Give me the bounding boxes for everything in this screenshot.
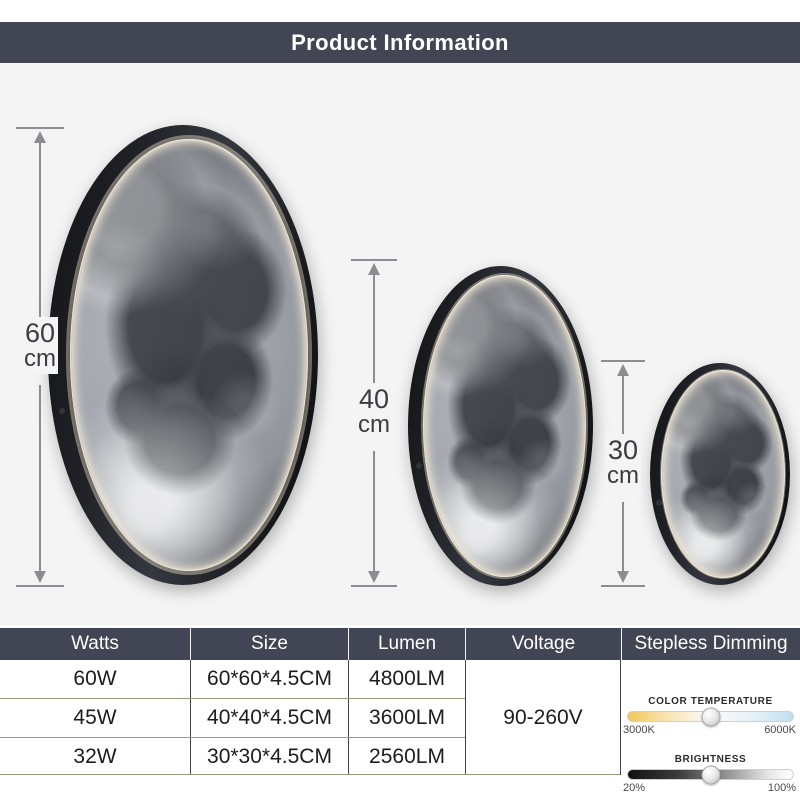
color-temperature-group: COLOR TEMPERATURE 3000K 6000K xyxy=(621,696,800,737)
page-title: Product Information xyxy=(291,30,509,56)
large-lamp-moon-face xyxy=(72,141,306,569)
table-header-lumen: Lumen xyxy=(348,628,465,660)
dimension-unit: cm xyxy=(607,463,639,488)
table-header-size: Size xyxy=(190,628,348,660)
brightness-title: BRIGHTNESS xyxy=(621,754,800,765)
color-temperature-title: COLOR TEMPERATURE xyxy=(621,696,800,707)
medium-lamp-screw xyxy=(417,464,421,468)
stepless-dimming-panel: COLOR TEMPERATURE 3000K 6000K BRIGHTNESS xyxy=(621,692,800,807)
brightness-min-label: 20% xyxy=(623,782,645,794)
table-cell-watts: 45W xyxy=(0,699,190,737)
brightness-group: BRIGHTNESS 20% 100% xyxy=(621,754,800,795)
color-temperature-scale: 3000K 6000K xyxy=(621,724,800,737)
medium-lamp-moon-face xyxy=(425,277,584,575)
table-cell-size: 40*40*4.5CM xyxy=(191,699,348,737)
dimension-arrowhead-bottom xyxy=(617,571,629,583)
product-information-page: Product Information xyxy=(0,0,800,800)
table-cell-lumen: 4800LM xyxy=(349,660,465,698)
dimension-shaft-upper xyxy=(39,137,41,325)
dimension-unit: cm xyxy=(24,346,56,371)
table-body: 60W 60*60*4.5CM 4800LM 45W 40*40*4.5CM 3… xyxy=(0,660,800,775)
dimension-label-40cm: 40 cm xyxy=(356,383,392,440)
dimension-value: 60 xyxy=(25,318,55,348)
table-cell-size: 30*30*4.5CM xyxy=(191,738,348,775)
dimension-marker-40cm: 40 cm xyxy=(345,259,403,587)
table-header-stepless-dimming: Stepless Dimming xyxy=(621,628,800,660)
brightness-slider[interactable] xyxy=(627,769,794,780)
table-header-voltage: Voltage xyxy=(465,628,621,660)
large-moon-lamp xyxy=(48,125,318,585)
color-temperature-slider[interactable] xyxy=(627,711,794,722)
small-lamp-screw xyxy=(657,501,661,505)
dimension-value: 40 xyxy=(359,384,389,414)
dimension-arrowhead-bottom xyxy=(34,571,46,583)
table-cell-lumen: 3600LM xyxy=(349,699,465,737)
dimension-shaft-upper xyxy=(373,269,375,391)
page-header-banner: Product Information xyxy=(0,22,800,63)
dimension-shaft-lower xyxy=(39,385,41,573)
dimension-shaft-lower xyxy=(373,451,375,573)
dimension-shaft-lower xyxy=(622,502,624,573)
dimension-shaft-upper xyxy=(622,370,624,442)
brightness-scale: 20% 100% xyxy=(621,782,800,795)
dimension-cap-top xyxy=(16,127,64,129)
dimension-cap-bottom xyxy=(16,585,64,587)
dimension-cap-top xyxy=(351,259,397,261)
dimension-unit: cm xyxy=(358,412,390,437)
color-temperature-max-label: 6000K xyxy=(764,724,796,736)
table-header-watts: Watts xyxy=(0,628,190,660)
dimension-marker-30cm: 30 cm xyxy=(595,360,651,587)
table-cell-watts: 32W xyxy=(0,738,190,775)
dimension-cap-bottom xyxy=(601,585,645,587)
color-temperature-min-label: 3000K xyxy=(623,724,655,736)
dimension-value: 30 xyxy=(608,435,638,465)
dimension-label-30cm: 30 cm xyxy=(605,434,641,491)
medium-moon-lamp xyxy=(408,266,593,586)
table-cell-watts: 60W xyxy=(0,660,190,698)
table-cell-lumen: 2560LM xyxy=(349,738,465,775)
specification-table: Watts Size Lumen Voltage Stepless Dimmin… xyxy=(0,628,800,775)
dimension-cap-top xyxy=(601,360,645,362)
dimension-marker-60cm: 60 cm xyxy=(10,127,70,587)
table-header-row: Watts Size Lumen Voltage Stepless Dimmin… xyxy=(0,628,800,660)
small-moon-lamp xyxy=(650,363,790,585)
table-cell-voltage: 90-260V xyxy=(466,660,620,775)
brightness-max-label: 100% xyxy=(768,782,796,794)
product-image-stage: 60 cm 40 cm 30 c xyxy=(0,63,800,625)
table-cell-size: 60*60*4.5CM xyxy=(191,660,348,698)
dimension-label-60cm: 60 cm xyxy=(22,317,58,374)
dimension-arrowhead-bottom xyxy=(368,571,380,583)
dimension-cap-bottom xyxy=(351,585,397,587)
small-lamp-moon-face xyxy=(663,372,783,576)
